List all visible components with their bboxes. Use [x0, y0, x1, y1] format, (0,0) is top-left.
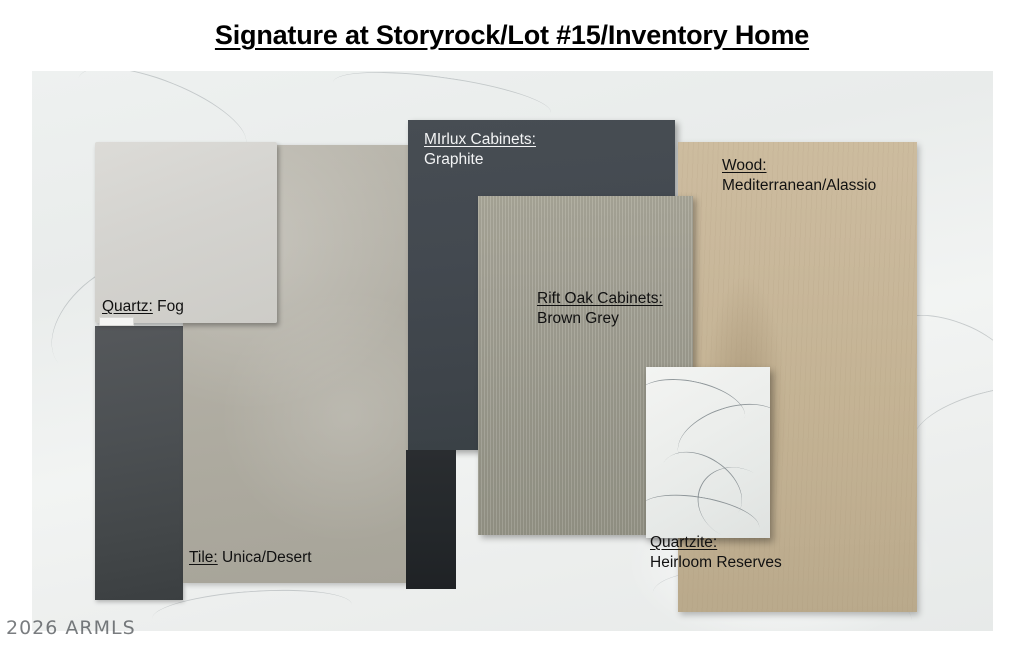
- quartzite-sample: [646, 367, 770, 538]
- dark-strip-sample: [406, 450, 456, 589]
- quartzite-vein: [647, 437, 756, 538]
- title-bar: Signature at Storyrock/Lot #15/Inventory…: [0, 0, 1024, 71]
- quartzite-vein: [646, 487, 763, 538]
- quartzite-vein: [685, 454, 770, 538]
- quartzite-vein: [646, 370, 750, 443]
- quartz-sticker: [99, 317, 134, 326]
- finish-board-photo: Quartz: Fog Tile: Unica/Desert MIrlux Ca…: [32, 71, 993, 631]
- armls-watermark: 2026 ARMLS: [6, 617, 136, 639]
- quartz-sample: [95, 142, 277, 323]
- quartzite-vein: [669, 391, 770, 483]
- page-title: Signature at Storyrock/Lot #15/Inventory…: [215, 20, 809, 51]
- marble-vein: [907, 373, 993, 471]
- charcoal-slab-sample: [95, 326, 183, 600]
